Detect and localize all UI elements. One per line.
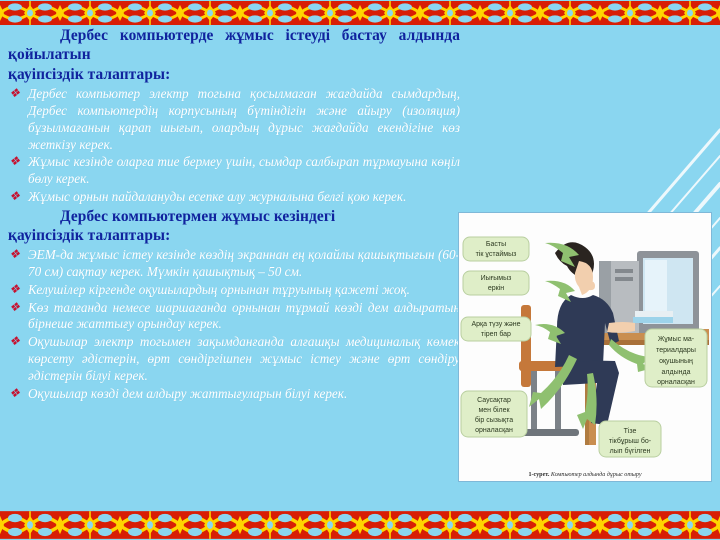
callout-materials-line3: оқушының <box>659 358 693 365</box>
list-item: ❖ Жұмыс орнын пайдалануды есепке алу жур… <box>8 189 460 206</box>
ornament-pattern-bottom <box>0 510 720 540</box>
diamond-bullet-icon: ❖ <box>9 249 20 260</box>
list-item: ❖ Оқушылар көзді дем алдыру жаттығуларын… <box>8 386 460 403</box>
bullet-text: Оқушылар электр тогымен зақымданғанда ал… <box>28 334 460 383</box>
diamond-bullet-icon: ❖ <box>9 191 20 202</box>
list-item: ❖ Дербес компьютер электр тогына қосылма… <box>8 86 460 153</box>
callout-knees-line1: Тізе <box>624 427 637 435</box>
callout-materials-line2: териалдары <box>656 347 696 354</box>
figure-caption-text: Компьютер алдында дұрыс отыру <box>551 472 642 478</box>
bottom-ornament-border <box>0 510 720 540</box>
list-item: ❖ Келушілер кіргенде оқушылардың орнынан… <box>8 282 460 299</box>
callout-back: Арқа түзу және тіреп бар <box>461 317 531 341</box>
callout-knees-line3: лып бүгілген <box>610 447 651 455</box>
bullet-text: ЭЕМ-да жұмыс істеу кезінде көздің экранн… <box>28 247 460 279</box>
text-column: Дербес компьютерде жұмыс істеуді бастау … <box>8 26 460 403</box>
callout-fingers: Саусақтар мен білек бір сызықта орналасқ… <box>461 391 527 437</box>
diamond-bullet-icon: ❖ <box>9 284 20 295</box>
callout-knees: Тізе тікбұрыш бо- лып бүгілген <box>599 421 661 457</box>
section1-heading-line2: қауіпсіздік талаптары: <box>8 66 170 83</box>
callout-head: Басты тік ұстаймыз <box>463 237 529 261</box>
books-shape <box>633 311 673 323</box>
section2-heading-line1: Дербес компьютермен жұмыс кезіндегі <box>60 208 335 225</box>
section1-heading: Дербес компьютерде жұмыс істеуді бастау … <box>8 26 460 84</box>
callout-materials: Жұмыс ма- териалдары оқушының алдында ор… <box>645 329 707 387</box>
callout-knees-line2: тікбұрыш бо- <box>609 437 652 445</box>
callout-back-line2: тіреп бар <box>481 330 511 338</box>
callout-materials-line1: Жұмыс ма- <box>658 336 695 343</box>
list-item: ❖ ЭЕМ-да жұмыс істеу кезінде көздің экра… <box>8 247 460 281</box>
bullet-text: Оқушылар көзді дем алдыру жаттығуларын б… <box>28 386 347 401</box>
diamond-bullet-icon: ❖ <box>9 388 20 399</box>
callout-back-line1: Арқа түзу және <box>471 321 520 328</box>
callout-fingers-line3: бір сызықта <box>475 416 513 424</box>
figure-caption: 1-сурет. Компьютер алдында дұрыс отыру <box>459 472 711 478</box>
bullet-text: Жұмыс кезінде оларға тие бермеу үшін, сы… <box>28 154 460 186</box>
callout-fingers-line2: мен білек <box>478 406 510 414</box>
posture-diagram: Басты тік ұстаймыз Иығымыз еркін Арқа тү… <box>459 213 711 481</box>
section2-heading: Дербес компьютермен жұмыс кезіндегі қауі… <box>8 207 460 246</box>
ornament-pattern-top <box>0 0 720 26</box>
callout-shoulders-line2: еркін <box>488 284 504 292</box>
callout-shoulders-line1: Иығымыз <box>481 275 512 282</box>
posture-illustration: Басты тік ұстаймыз Иығымыз еркін Арқа тү… <box>458 212 712 482</box>
callout-head-line1: Басты <box>486 241 506 248</box>
list-item: ❖ Жұмыс кезінде оларға тие бермеу үшін, … <box>8 154 460 188</box>
top-ornament-border <box>0 0 720 26</box>
callout-materials-line5: орналасқан <box>657 379 695 386</box>
diamond-bullet-icon: ❖ <box>9 88 20 99</box>
section1-heading-line1: Дербес компьютерде жұмыс істеуді бастау … <box>8 27 460 63</box>
diamond-bullet-icon: ❖ <box>9 156 20 167</box>
callout-shoulders: Иығымыз еркін <box>463 271 529 295</box>
bullet-text: Көз талғанда немесе шаршағанда орнынан т… <box>28 300 460 332</box>
bullet-text: Дербес компьютер электр тогына қосылмаға… <box>28 86 460 151</box>
diamond-bullet-icon: ❖ <box>9 336 20 347</box>
callout-head-line2: тік ұстаймыз <box>476 250 517 258</box>
callout-fingers-line4: орналасқан <box>475 427 513 434</box>
bullet-text: Жұмыс орнын пайдалануды есепке алу журна… <box>28 189 406 204</box>
list-item: ❖ Көз талғанда немесе шаршағанда орнынан… <box>8 300 460 334</box>
list-item: ❖ Оқушылар электр тогымен зақымданғанда … <box>8 334 460 384</box>
section2-bullet-list: ❖ ЭЕМ-да жұмыс істеу кезінде көздің экра… <box>8 247 460 402</box>
section1-bullet-list: ❖ Дербес компьютер электр тогына қосылма… <box>8 86 460 205</box>
callout-fingers-line1: Саусақтар <box>477 397 511 404</box>
bullet-text: Келушілер кіргенде оқушылардың орнынан т… <box>28 282 410 297</box>
section2-heading-line2: қауіпсіздік талаптары: <box>8 227 170 244</box>
figure-caption-number: 1-сурет. <box>528 472 549 478</box>
callout-materials-line4: алдында <box>662 369 691 376</box>
diamond-bullet-icon: ❖ <box>9 302 20 313</box>
